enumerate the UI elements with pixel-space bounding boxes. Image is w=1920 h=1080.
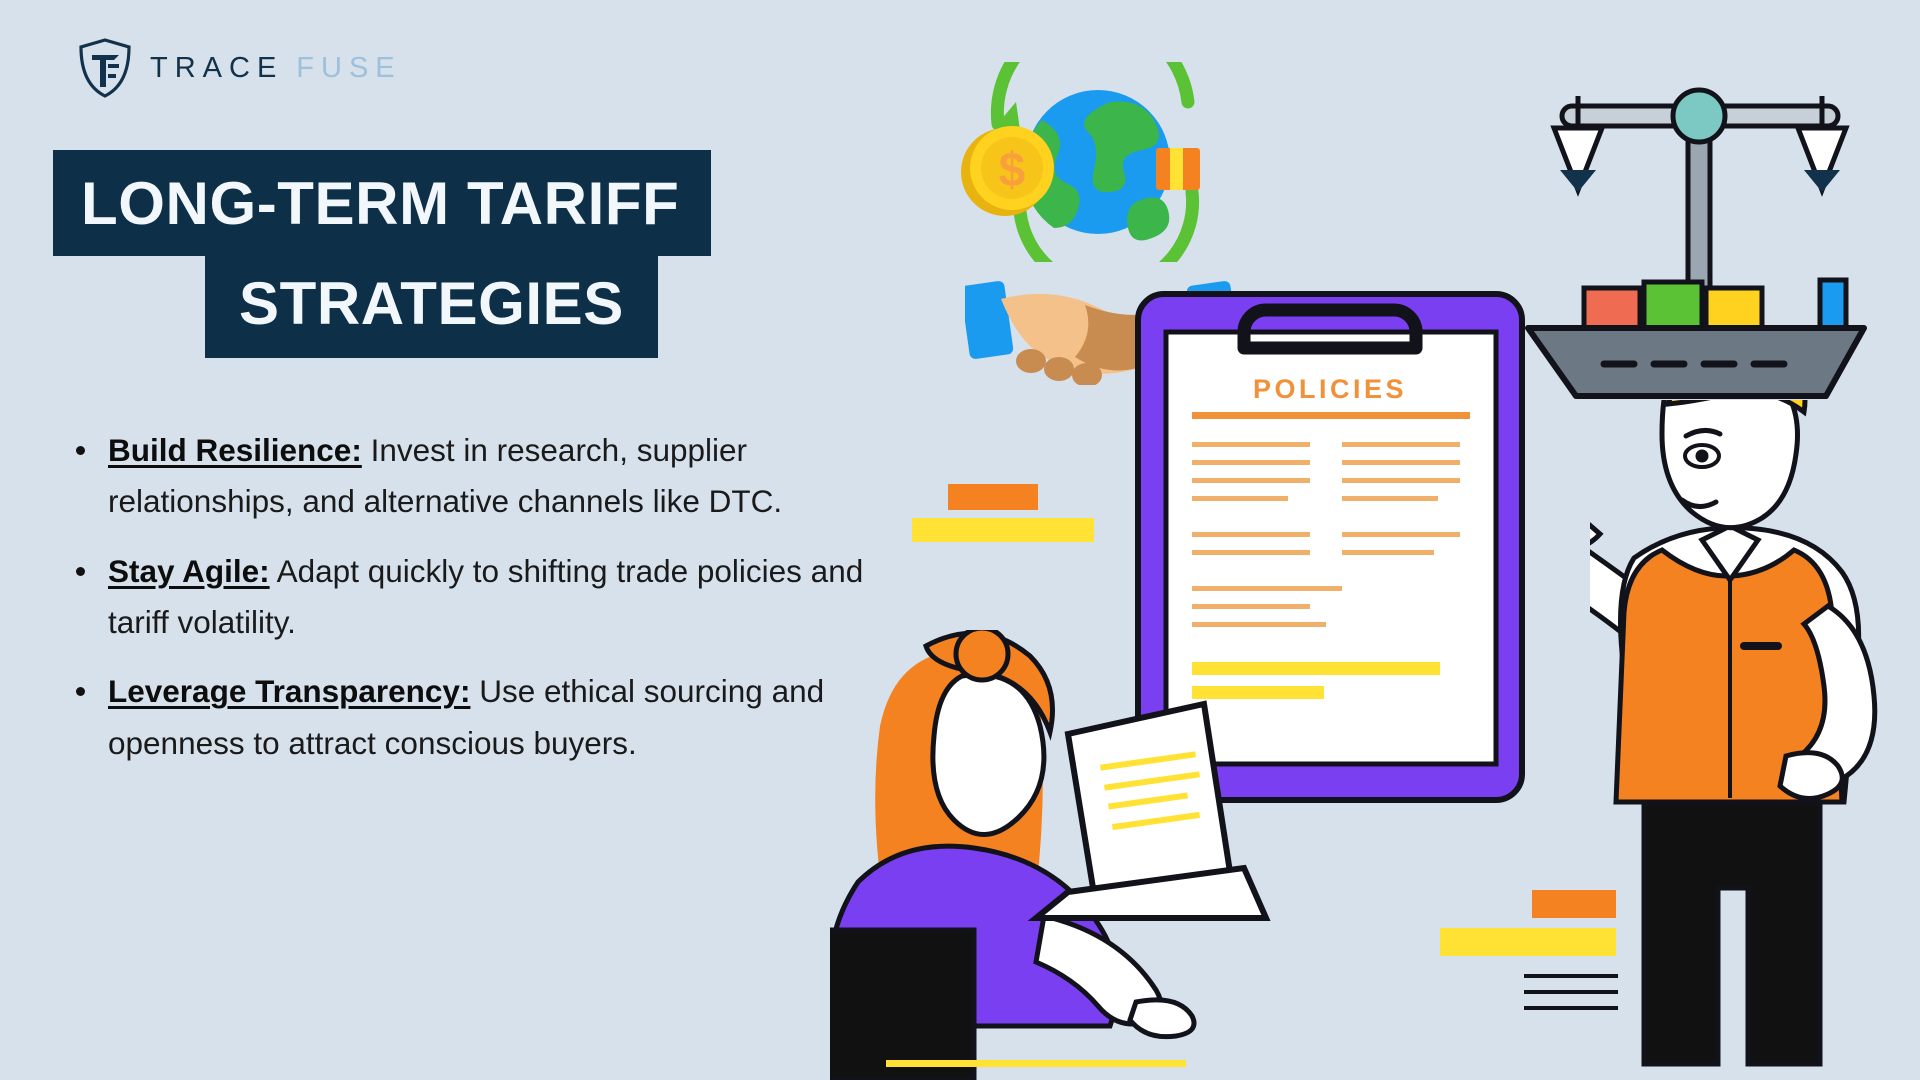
infographic-canvas: TRACE FUSE LONG-TERM TARIFF STRATEGIES B… bbox=[0, 0, 1920, 1080]
svg-text:$: $ bbox=[999, 144, 1026, 197]
decor-bars-left-icon bbox=[912, 482, 1112, 552]
cargo-ship-icon bbox=[1520, 270, 1890, 450]
list-item-lead: Stay Agile: bbox=[108, 553, 270, 589]
title-line-1: LONG-TERM TARIFF bbox=[53, 150, 711, 256]
list-item-lead: Leverage Transparency: bbox=[108, 673, 470, 709]
list-item-lead: Build Resilience: bbox=[108, 432, 362, 468]
list-item: Leverage Transparency: Use ethical sourc… bbox=[62, 666, 882, 769]
brand-wordmark: TRACE FUSE bbox=[150, 52, 402, 85]
seated-woman-laptop-icon bbox=[830, 630, 1410, 1080]
globe-icon: $ bbox=[960, 62, 1230, 262]
title-line-2: STRATEGIES bbox=[205, 256, 658, 358]
brand-logo: TRACE FUSE bbox=[78, 38, 402, 98]
clipboard-icon: POLICIES bbox=[1130, 280, 1530, 810]
strategy-list: Build Resilience: Invest in research, su… bbox=[62, 425, 882, 787]
list-item: Build Resilience: Invest in research, su… bbox=[62, 425, 882, 528]
page-title: LONG-TERM TARIFF STRATEGIES bbox=[53, 150, 711, 358]
list-item: Stay Agile: Adapt quickly to shifting tr… bbox=[62, 546, 882, 649]
balance-scale-icon bbox=[1540, 80, 1860, 320]
brand-name-primary: TRACE bbox=[150, 52, 283, 85]
shield-tf-monogram-icon bbox=[78, 38, 132, 98]
decor-bars-right-icon bbox=[1440, 890, 1630, 1030]
handshake-icon bbox=[965, 275, 1235, 385]
standing-man-icon bbox=[1590, 400, 1920, 1080]
brand-name-secondary: FUSE bbox=[296, 52, 401, 85]
clipboard-title: POLICIES bbox=[1253, 374, 1407, 404]
